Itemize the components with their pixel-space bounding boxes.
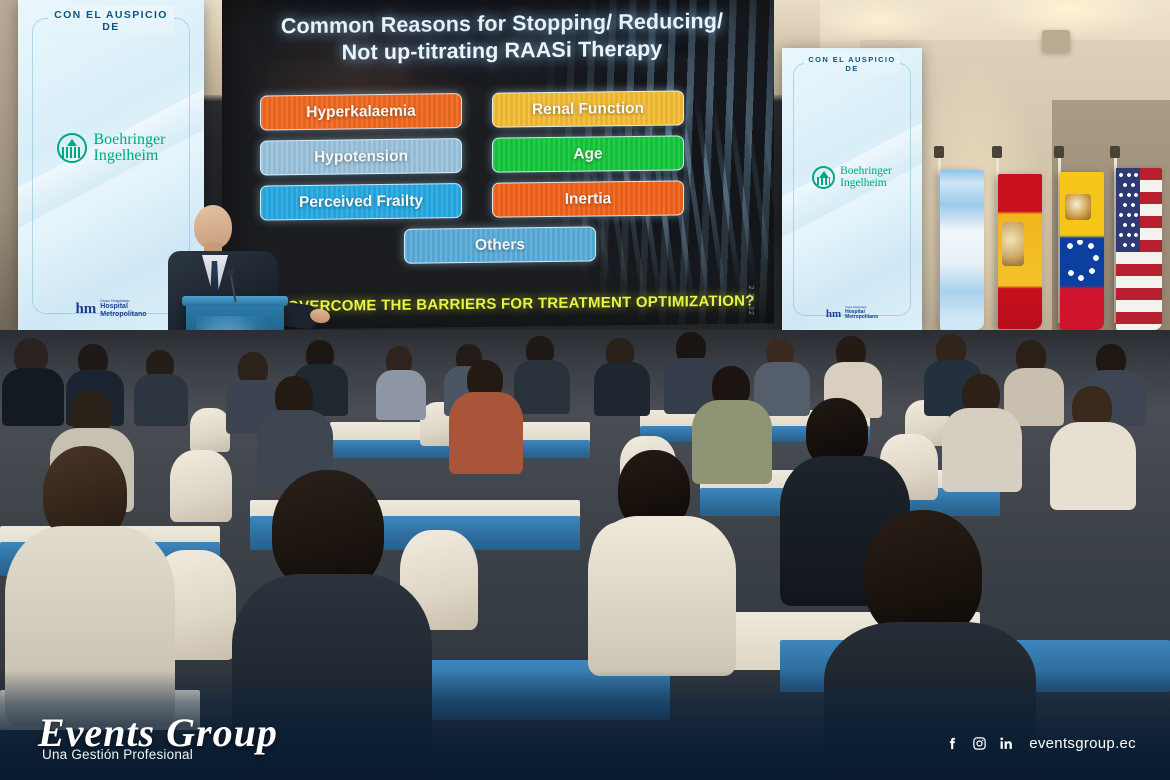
person-torso bbox=[692, 400, 772, 484]
flag-finial-icon bbox=[992, 146, 1002, 158]
reason-label: Hypotension bbox=[314, 147, 408, 166]
reason-box-renal-function: Renal Function bbox=[492, 90, 684, 127]
events-group-logo: Events Group Una Gestión Profesional bbox=[38, 713, 278, 762]
chair bbox=[190, 408, 230, 452]
boehringer-wordmark: Boehringer Ingelheim bbox=[94, 132, 166, 165]
box-row-2: Hypotension Age bbox=[260, 135, 740, 176]
boehringer-mark-icon bbox=[57, 133, 87, 163]
hospital-line-1: Hospital bbox=[100, 303, 128, 310]
reason-label: Perceived Frailty bbox=[299, 192, 423, 212]
person-torso bbox=[514, 360, 570, 414]
slide-title: Common Reasons for Stopping/ Reducing/ N… bbox=[252, 8, 752, 68]
reason-box-others: Others bbox=[404, 226, 596, 263]
reason-box-inertia: Inertia bbox=[492, 180, 684, 217]
slide-edge-note: 2 21 22 bbox=[747, 285, 754, 315]
box-row-1: Hyperkalaemia Renal Function bbox=[260, 90, 740, 131]
box-row-3: Perceived Frailty Inertia bbox=[260, 180, 740, 221]
reason-box-age: Age bbox=[492, 135, 684, 172]
banner-frame bbox=[793, 63, 911, 316]
linkedin-icon[interactable] bbox=[997, 734, 1015, 752]
boehringer-ingelheim-logo: Boehringer Ingelheim bbox=[782, 166, 922, 189]
reason-box-perceived-frailty: Perceived Frailty bbox=[260, 183, 462, 220]
flag-finial-icon bbox=[934, 146, 944, 158]
usa-star-field-icon bbox=[1116, 168, 1140, 252]
projection-screen: Common Reasons for Stopping/ Reducing/ N… bbox=[222, 0, 774, 330]
conference-photo: Common Reasons for Stopping/ Reducing/ N… bbox=[0, 0, 1170, 780]
hospital-mark-icon: hm bbox=[826, 308, 841, 320]
person-torso bbox=[942, 408, 1022, 492]
website-url[interactable]: eventsgroup.ec bbox=[1029, 735, 1136, 752]
instagram-icon[interactable] bbox=[970, 734, 988, 752]
person-torso bbox=[2, 368, 64, 426]
person-torso bbox=[449, 392, 523, 474]
slide-reason-boxes: Hyperkalaemia Renal Function Hypotension… bbox=[260, 90, 740, 266]
sponsor-line-1: Boehringer bbox=[840, 165, 892, 177]
hospital-metropolitano-logo: hm Grupo Hospitalario Hospital Metropoli… bbox=[782, 307, 922, 320]
social-links: eventsgroup.ec bbox=[943, 734, 1136, 752]
chair bbox=[170, 450, 232, 522]
venezuela-coat-of-arms-icon bbox=[1065, 194, 1091, 220]
boehringer-wordmark: Boehringer Ingelheim bbox=[840, 166, 892, 189]
reason-label: Others bbox=[475, 236, 525, 255]
ceiling-projector bbox=[1042, 30, 1070, 52]
hospital-line-2: Metropolitano bbox=[100, 311, 146, 318]
spain-coat-of-arms-icon bbox=[1002, 222, 1024, 266]
person-torso bbox=[134, 374, 188, 426]
person-head bbox=[864, 510, 982, 640]
venezuela-stars-icon bbox=[1064, 240, 1100, 298]
branding-overlay: Events Group Una Gestión Profesional bbox=[0, 670, 1170, 780]
person-torso bbox=[376, 370, 426, 420]
hospital-wordmark: Grupo Hospitalario Hospital Metropolitan… bbox=[100, 300, 146, 318]
hospital-mark-icon: hm bbox=[75, 301, 96, 318]
reason-label: Age bbox=[573, 145, 602, 163]
flag-finial-icon bbox=[1110, 146, 1120, 158]
sponsor-banner-right: CON EL AUSPICIO DE Boehringer Ingelheim … bbox=[782, 48, 922, 330]
reason-box-hyperkalaemia: Hyperkalaemia bbox=[260, 93, 462, 130]
sponsor-line-2: Ingelheim bbox=[840, 177, 887, 189]
flag-argentina bbox=[940, 170, 984, 330]
flag-venezuela bbox=[1060, 172, 1104, 330]
banner-frame bbox=[32, 18, 190, 314]
person-torso bbox=[594, 362, 650, 416]
person-torso bbox=[1050, 422, 1136, 510]
flag-united-states bbox=[1116, 168, 1162, 330]
reason-label: Inertia bbox=[565, 190, 612, 209]
person-torso bbox=[588, 516, 736, 676]
boehringer-ingelheim-logo: Boehringer Ingelheim bbox=[18, 132, 204, 165]
reason-label: Renal Function bbox=[532, 99, 644, 118]
facebook-icon[interactable] bbox=[943, 734, 961, 752]
banner-heading: CON EL AUSPICIO DE bbox=[804, 53, 900, 75]
sponsor-line-1: Boehringer bbox=[94, 131, 166, 148]
banner-heading: CON EL AUSPICIO DE bbox=[48, 6, 174, 36]
reason-box-hypotension: Hypotension bbox=[260, 138, 462, 175]
boehringer-mark-icon bbox=[812, 166, 835, 189]
hospital-line-2: Metropolitano bbox=[845, 314, 878, 320]
flag-spain bbox=[998, 174, 1042, 329]
hospital-wordmark: Grupo Hospitalario Hospital Metropolitan… bbox=[845, 307, 878, 320]
flag-finial-icon bbox=[1054, 146, 1064, 158]
sponsor-line-2: Ingelheim bbox=[94, 147, 159, 164]
reason-label: Hyperkalaemia bbox=[306, 102, 415, 121]
